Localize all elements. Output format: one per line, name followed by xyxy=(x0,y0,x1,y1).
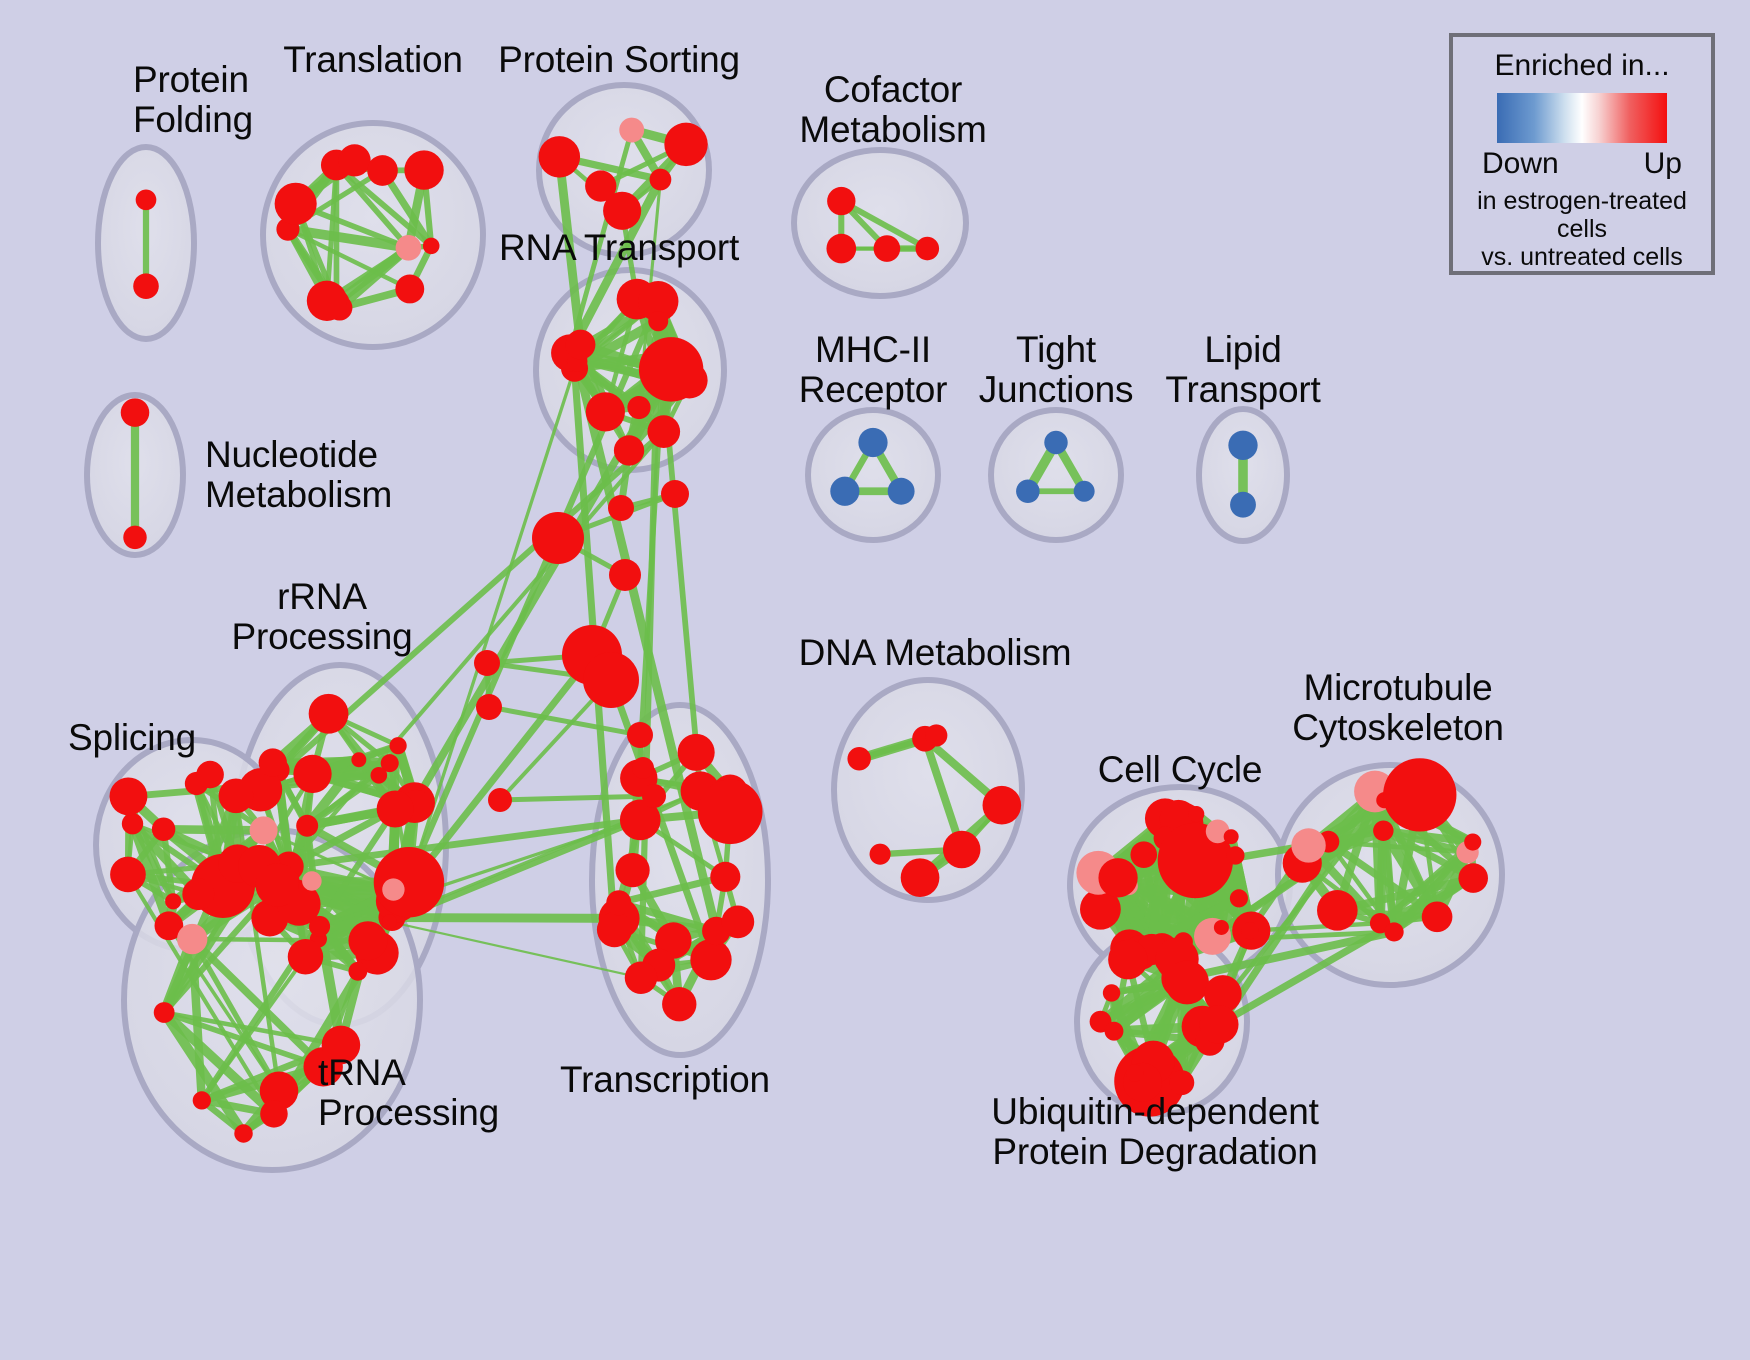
graph-node-splicing xyxy=(250,816,278,844)
cluster-label-trna-processing: tRNA Processing xyxy=(318,1053,499,1132)
graph-node-microtubule-cytoskeleton xyxy=(1385,922,1404,941)
graph-node-dna-metabolism xyxy=(870,844,891,865)
cluster-label-tight-junctions: Tight Junctions xyxy=(979,330,1134,409)
graph-node-microtubule-cytoskeleton xyxy=(1464,833,1481,850)
graph-node-spine xyxy=(474,650,500,676)
graph-node-ubiquitin-protein-degradation xyxy=(1165,961,1209,1005)
graph-node-translation xyxy=(395,275,424,304)
graph-node-cell-cycle xyxy=(1188,806,1204,822)
cluster-label-ubiquitin-protein-degradation: Ubiquitin-dependent Protein Degradation xyxy=(991,1092,1318,1171)
graph-node-rrna-processing xyxy=(296,815,318,837)
graph-node-spine xyxy=(609,559,641,591)
cluster-label-rrna-processing: rRNA Processing xyxy=(231,577,412,656)
graph-node-trna-processing xyxy=(177,924,207,954)
graph-node-ubiquitin-protein-degradation xyxy=(1126,1064,1143,1081)
graph-node-rrna-processing xyxy=(288,939,323,974)
graph-node-rrna-processing xyxy=(377,791,414,828)
legend-box: Enriched in... Down Up in estrogen-treat… xyxy=(1449,33,1715,275)
graph-node-cell-cycle xyxy=(1241,922,1258,939)
graph-node-tight-junctions xyxy=(1074,481,1095,502)
graph-node-rrna-processing xyxy=(382,914,397,929)
graph-node-protein-sorting xyxy=(585,170,616,201)
graph-node-cell-cycle xyxy=(1230,889,1248,907)
graph-node-mhc-ii-receptor xyxy=(830,477,859,506)
legend-caption-line1: in estrogen-treated cells xyxy=(1453,187,1711,243)
graph-node-spine xyxy=(661,480,689,508)
graph-node-nucleotide-metabolism xyxy=(121,398,150,427)
cluster-label-splicing: Splicing xyxy=(68,718,196,758)
graph-node-ubiquitin-protein-degradation xyxy=(1108,940,1148,980)
graph-node-cofactor-metabolism xyxy=(916,237,940,261)
graph-node-translation xyxy=(367,155,398,186)
graph-node-dna-metabolism xyxy=(925,724,947,746)
graph-node-cofactor-metabolism xyxy=(874,235,901,262)
graph-node-splicing xyxy=(109,777,147,815)
graph-node-tight-junctions xyxy=(1016,479,1040,503)
graph-node-transcription xyxy=(710,862,740,892)
graph-node-rrna-processing xyxy=(348,962,367,981)
legend-gradient-bar xyxy=(1497,93,1667,143)
cluster-label-mhc-ii-receptor: MHC-II Receptor xyxy=(799,330,948,409)
graph-node-protein-sorting xyxy=(650,169,672,191)
graph-node-rrna-processing xyxy=(371,767,388,784)
graph-node-splicing xyxy=(110,857,146,893)
legend-low-label: Down xyxy=(1482,147,1559,181)
graph-node-cell-cycle xyxy=(1130,841,1157,868)
graph-node-spine xyxy=(642,784,666,808)
graph-node-transcription xyxy=(606,890,631,915)
graph-node-rna-transport xyxy=(566,330,596,360)
graph-node-cofactor-metabolism xyxy=(827,187,855,215)
cluster-label-cofactor-metabolism: Cofactor Metabolism xyxy=(799,70,986,149)
graph-node-transcription xyxy=(722,906,755,939)
graph-node-translation xyxy=(338,144,370,176)
graph-node-splicing xyxy=(152,817,175,840)
cluster-label-protein-folding: Protein Folding xyxy=(133,60,253,139)
graph-node-spine xyxy=(627,722,653,748)
graph-node-rrna-processing xyxy=(309,694,349,734)
graph-node-cell-cycle xyxy=(1214,920,1229,935)
graph-node-protein-sorting xyxy=(619,118,644,143)
graph-node-protein-folding xyxy=(136,189,157,210)
graph-node-cell-cycle xyxy=(1098,858,1137,897)
graph-node-ubiquitin-protein-degradation xyxy=(1105,1022,1124,1041)
graph-node-trna-processing xyxy=(193,1091,211,1109)
graph-node-mhc-ii-receptor xyxy=(888,478,915,505)
cluster-label-lipid-transport: Lipid Transport xyxy=(1165,330,1320,409)
graph-node-rrna-processing xyxy=(382,878,404,900)
figure-canvas: Protein FoldingTranslationProtein Sortin… xyxy=(0,0,1750,1360)
graph-node-microtubule-cytoskeleton xyxy=(1383,758,1456,831)
graph-node-microtubule-cytoskeleton xyxy=(1291,828,1325,862)
graph-node-dna-metabolism xyxy=(901,858,940,897)
graph-node-rna-transport xyxy=(648,311,668,331)
graph-node-trna-processing xyxy=(256,863,299,906)
graph-node-splicing xyxy=(165,893,181,909)
graph-node-trna-processing xyxy=(234,1124,252,1142)
graph-node-rrna-processing xyxy=(374,847,444,917)
cluster-label-translation: Translation xyxy=(283,40,462,80)
graph-node-trna-processing xyxy=(154,1002,175,1023)
graph-node-transcription xyxy=(662,987,696,1021)
graph-node-protein-sorting xyxy=(664,123,707,166)
cluster-label-microtubule-cytoskeleton: Microtubule Cytoskeleton xyxy=(1292,668,1504,747)
graph-node-lipid-transport xyxy=(1230,492,1256,518)
cluster-label-rna-transport: RNA Transport xyxy=(499,228,739,268)
graph-node-transcription xyxy=(615,853,649,887)
graph-node-rrna-processing xyxy=(351,752,366,767)
graph-node-microtubule-cytoskeleton xyxy=(1317,890,1358,931)
graph-node-rna-transport xyxy=(614,435,644,465)
legend-high-label: Up xyxy=(1644,147,1682,181)
cluster-label-protein-sorting: Protein Sorting xyxy=(498,40,740,80)
edge xyxy=(392,918,619,919)
graph-node-splicing xyxy=(196,761,224,789)
graph-node-dna-metabolism xyxy=(847,747,870,770)
graph-node-rna-transport xyxy=(627,396,650,419)
edge xyxy=(164,829,264,830)
graph-node-tight-junctions xyxy=(1044,431,1067,454)
graph-node-protein-folding xyxy=(133,273,159,299)
graph-node-trna-processing xyxy=(302,871,322,891)
legend-caption-line2: vs. untreated cells xyxy=(1453,243,1711,271)
graph-node-rrna-processing xyxy=(293,755,331,793)
graph-node-splicing xyxy=(219,778,254,813)
graph-node-trna-processing xyxy=(348,921,387,960)
graph-node-spine xyxy=(476,694,502,720)
cluster-label-dna-metabolism: DNA Metabolism xyxy=(799,633,1072,673)
graph-node-spine xyxy=(532,512,584,564)
graph-node-transcription xyxy=(698,779,763,844)
graph-node-transcription xyxy=(678,734,715,771)
graph-node-spine xyxy=(632,757,654,779)
graph-node-cell-cycle xyxy=(1224,829,1239,844)
graph-node-translation xyxy=(404,150,443,189)
graph-node-transcription xyxy=(625,962,657,994)
graph-node-rna-transport xyxy=(639,337,703,401)
graph-node-spine xyxy=(583,652,639,708)
graph-node-translation xyxy=(275,183,317,225)
graph-node-transcription xyxy=(690,939,731,980)
cluster-label-transcription: Transcription xyxy=(560,1060,770,1100)
graph-node-translation xyxy=(307,281,347,321)
cluster-label-nucleotide-metabolism: Nucleotide Metabolism xyxy=(205,435,392,514)
graph-node-microtubule-cytoskeleton xyxy=(1422,901,1453,932)
graph-node-cell-cycle xyxy=(1226,846,1244,864)
graph-node-rna-transport xyxy=(586,392,625,431)
graph-node-lipid-transport xyxy=(1228,431,1257,460)
graph-node-rrna-processing xyxy=(259,748,287,776)
graph-node-nucleotide-metabolism xyxy=(123,526,146,549)
graph-node-microtubule-cytoskeleton xyxy=(1373,821,1393,841)
graph-node-translation xyxy=(423,238,440,255)
graph-node-dna-metabolism xyxy=(943,831,981,869)
graph-node-microtubule-cytoskeleton xyxy=(1458,863,1488,893)
graph-node-protein-sorting xyxy=(539,136,580,177)
legend-title: Enriched in... xyxy=(1494,49,1669,83)
graph-node-ubiquitin-protein-degradation xyxy=(1200,1005,1239,1044)
graph-node-dna-metabolism xyxy=(983,786,1022,825)
graph-node-cofactor-metabolism xyxy=(826,234,856,264)
graph-node-rna-transport xyxy=(647,415,680,448)
cluster-label-cell-cycle: Cell Cycle xyxy=(1098,750,1263,790)
graph-node-splicing xyxy=(122,813,143,834)
graph-node-rrna-processing xyxy=(390,737,407,754)
graph-node-splicing xyxy=(182,878,214,910)
graph-node-trna-processing xyxy=(260,1100,288,1128)
graph-node-transcription xyxy=(597,912,632,947)
graph-node-ubiquitin-protein-degradation xyxy=(1103,984,1120,1001)
graph-node-spine xyxy=(488,788,512,812)
cluster-hull-tight-junctions xyxy=(991,410,1121,540)
graph-node-spine xyxy=(608,495,634,521)
graph-node-mhc-ii-receptor xyxy=(858,428,887,457)
graph-node-translation xyxy=(396,235,422,261)
